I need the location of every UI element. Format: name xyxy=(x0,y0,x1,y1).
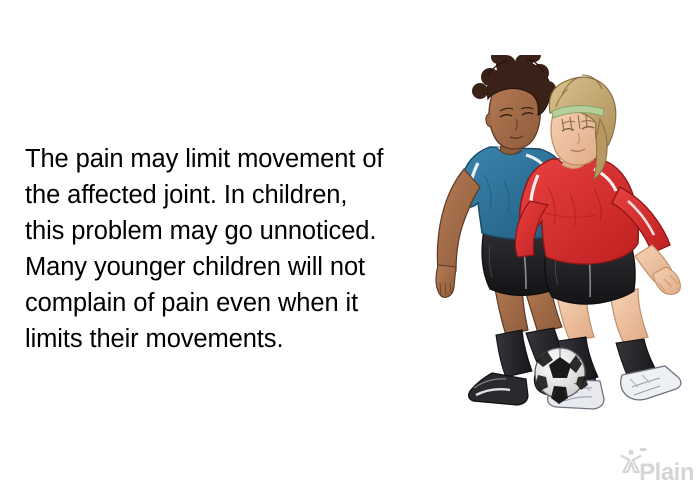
body-text-line-1: The pain may limit movement of xyxy=(25,141,445,177)
slide-canvas: The pain may limit movement of the affec… xyxy=(0,0,700,480)
blue-left-sock xyxy=(496,330,532,377)
x-plain-logo: -Plain xyxy=(620,444,694,478)
logo-text: -Plain xyxy=(639,437,694,480)
body-text-line-2: the affected joint. In children, xyxy=(25,177,445,213)
body-text-line-6: limits their movements. xyxy=(25,321,445,357)
body-text-line-3: this problem may go unnoticed. xyxy=(25,213,445,249)
blue-left-arm xyxy=(437,169,480,271)
body-text-line-5: complain of pain even when it xyxy=(25,285,445,321)
body-text-block: The pain may limit movement of the affec… xyxy=(25,141,445,357)
soccer-players-illustration xyxy=(430,55,700,415)
body-text-line-4: Many younger children will not xyxy=(25,249,445,285)
